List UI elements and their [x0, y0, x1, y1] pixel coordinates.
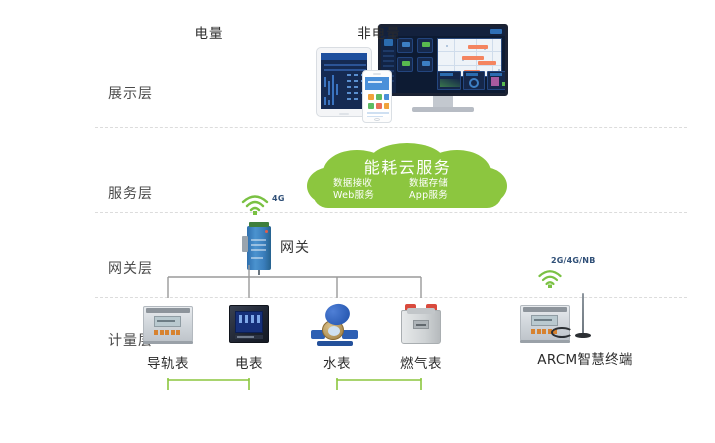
arcm-label: ARCM智慧终端 [489, 348, 681, 368]
monitor-status-tiles [397, 38, 435, 79]
wifi-icon [537, 268, 563, 288]
layer-divider-1 [95, 127, 687, 128]
meter-label-electric: 电表 [199, 352, 299, 372]
phone-speaker [373, 73, 381, 75]
arcm-terminal-node: 2G/4G/NB ARCM智慧终端 [505, 272, 665, 380]
gateway-node: 4G 网关 [236, 193, 366, 275]
antenna-icon [582, 293, 584, 335]
gas-meter-icon [371, 300, 471, 348]
architecture-diagram: 展示层 服务层 网关层 计量层 [0, 0, 715, 443]
wireless-label-4g: 4G [272, 194, 285, 203]
meter-label-gas: 燃气表 [371, 352, 471, 372]
panel-electric-meter-icon [199, 300, 299, 348]
layer-label-display: 展示层 [108, 83, 188, 103]
phone-home-button [374, 118, 380, 121]
bracket-label-electric: 电量 [149, 22, 269, 42]
monitor-stand-base [412, 107, 474, 112]
meter-electric: 电表 [199, 300, 299, 372]
phone-screen [365, 77, 389, 117]
gateway-device-icon [247, 226, 271, 270]
cloud-title: 能耗云服务 [305, 154, 510, 178]
antenna-cable [551, 327, 573, 338]
monitor-bottom-cards [437, 71, 502, 90]
gateway-label: 网关 [280, 237, 310, 257]
layer-label-service: 服务层 [108, 183, 188, 203]
cloud-item-app-service: App服务 [409, 190, 485, 202]
wireless-label-2g-4g-nb: 2G/4G/NB [551, 256, 596, 265]
bracket-label-non-electric: 非电量 [319, 22, 439, 42]
monitor-stand-neck [433, 96, 453, 107]
measurement-category-brackets [0, 378, 715, 438]
wifi-icon [240, 193, 270, 215]
cloud-item-data-receive: 数据接收 [333, 178, 409, 190]
meter-gas: 燃气表 [371, 300, 471, 372]
tablet-screen [321, 53, 367, 109]
tablet-home-button [339, 113, 349, 115]
smartphone-icon [362, 70, 392, 123]
cloud-item-data-storage: 数据存储 [409, 178, 485, 190]
antenna-base [575, 333, 591, 338]
